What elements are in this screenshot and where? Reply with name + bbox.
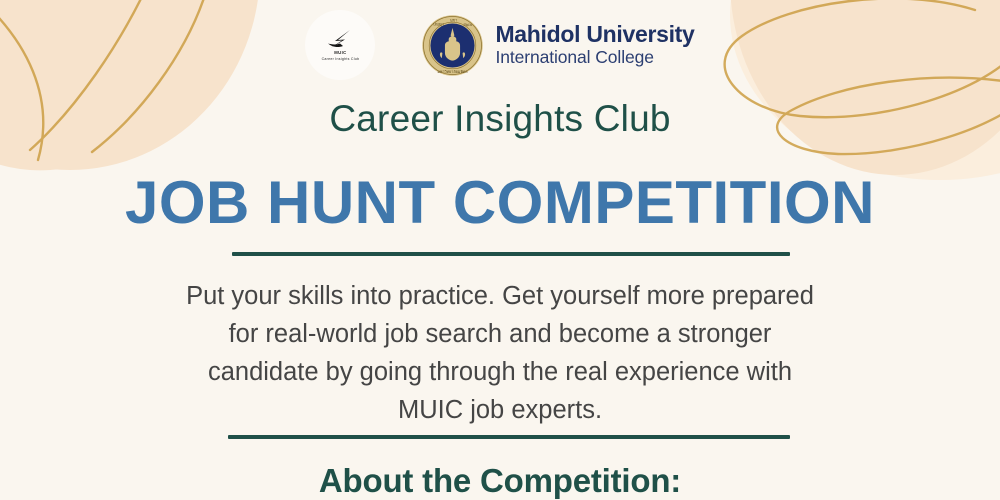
description-line: for real-world job search and become a s… bbox=[110, 315, 890, 353]
club-logo-subtitle: Career Insights Club bbox=[322, 58, 360, 62]
university-division: International College bbox=[495, 49, 694, 67]
svg-text:มหาวิทยาลัยมหิดล: มหาวิทยาลัยมหิดล bbox=[438, 70, 468, 74]
logo-row: MUIC Career Insights Club bbox=[0, 6, 1000, 84]
career-insights-club-logo: MUIC Career Insights Club bbox=[305, 10, 375, 80]
svg-text:ปญฺญา: ปญฺญา bbox=[434, 21, 445, 26]
description-line: MUIC job experts. bbox=[110, 391, 890, 429]
mahidol-seal-icon: ปญฺญา มุขา สพฺเพ มหาวิทยาลัยมหิดล bbox=[421, 14, 484, 77]
club-logo-abbr: MUIC bbox=[334, 51, 346, 55]
club-emblem-icon bbox=[325, 28, 355, 50]
description-paragraph: Put your skills into practice. Get yours… bbox=[110, 277, 890, 429]
mahidol-wordmark: Mahidol University International College bbox=[495, 23, 694, 66]
page-title: JOB HUNT COMPETITION bbox=[0, 168, 1000, 237]
divider-top bbox=[232, 252, 790, 256]
club-title: Career Insights Club bbox=[0, 98, 1000, 140]
divider-bottom bbox=[228, 435, 790, 439]
mahidol-university-lockup: ปญฺญา มุขา สพฺเพ มหาวิทยาลัยมหิดล Mahido… bbox=[421, 14, 694, 77]
poster-canvas: MUIC Career Insights Club bbox=[0, 0, 1000, 500]
university-name: Mahidol University bbox=[495, 23, 694, 46]
section-heading-about: About the Competition: bbox=[0, 462, 1000, 500]
svg-text:สพฺเพ: สพฺเพ bbox=[464, 21, 473, 26]
description-line: candidate by going through the real expe… bbox=[110, 353, 890, 391]
description-line: Put your skills into practice. Get yours… bbox=[110, 277, 890, 315]
